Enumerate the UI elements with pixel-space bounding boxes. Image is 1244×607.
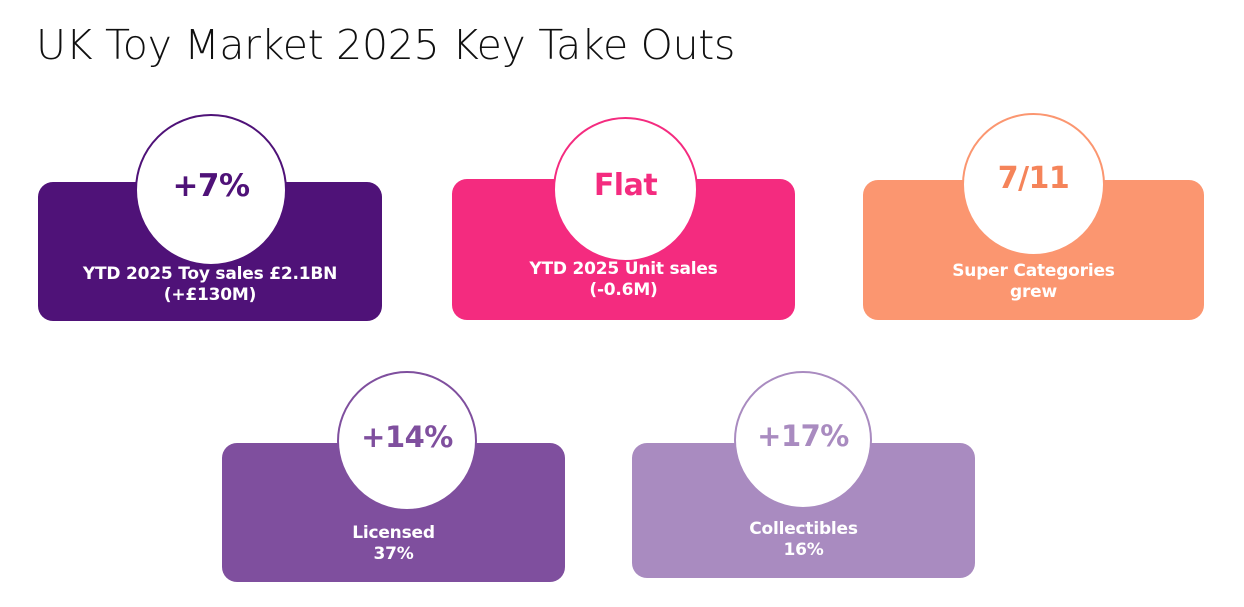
kpi-bubble-toy-sales: +7% bbox=[135, 114, 287, 266]
kpi-bubble-value-collectibles: +17% bbox=[757, 422, 849, 451]
slide-canvas: UK Toy Market 2025 Key Take Outs YTD 202… bbox=[0, 0, 1244, 607]
kpi-label-super-categories: Super Categories grew bbox=[952, 261, 1114, 305]
kpi-bubble-value-super-categories: 7/11 bbox=[998, 164, 1070, 194]
kpi-bubble-unit-sales: Flat bbox=[553, 117, 698, 262]
kpi-bubble-value-unit-sales: Flat bbox=[594, 171, 657, 201]
kpi-bubble-super-categories: 7/11 bbox=[962, 113, 1105, 256]
kpi-bubble-licensed: +14% bbox=[337, 371, 477, 511]
kpi-bubble-collectibles: +17% bbox=[734, 371, 872, 509]
kpi-label-collectibles: Collectibles 16% bbox=[749, 519, 858, 563]
page-title: UK Toy Market 2025 Key Take Outs bbox=[36, 22, 735, 69]
kpi-label-unit-sales: YTD 2025 Unit sales (-0.6M) bbox=[529, 259, 717, 303]
kpi-label-toy-sales: YTD 2025 Toy sales £2.1BN (+£130M) bbox=[83, 264, 337, 308]
kpi-label-licensed: Licensed 37% bbox=[352, 523, 435, 567]
kpi-bubble-value-licensed: +14% bbox=[361, 423, 453, 452]
kpi-bubble-value-toy-sales: +7% bbox=[172, 171, 249, 202]
